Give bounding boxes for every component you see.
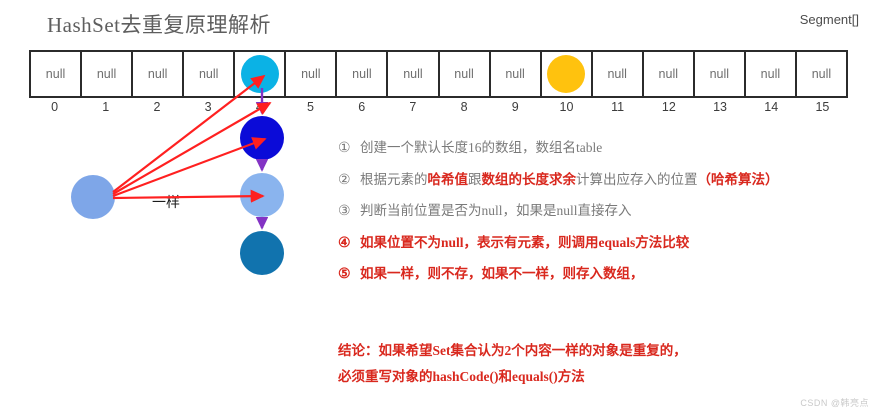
step-text-segment: 如果一样，则不存，如果不一样，则存入数组， bbox=[360, 266, 644, 281]
array-cell-14: null bbox=[746, 52, 797, 96]
bucket-node-10 bbox=[547, 55, 585, 93]
array-cell-4 bbox=[235, 52, 286, 96]
array-cell-value: null bbox=[812, 67, 831, 81]
array-index-4: 4 bbox=[234, 100, 285, 114]
array-cell-2: null bbox=[133, 52, 184, 96]
steps-list: ①创建一个默认长度16的数组，数组名table②根据元素的哈希值跟数组的长度求余… bbox=[338, 140, 868, 298]
array-index-13: 13 bbox=[694, 100, 745, 114]
step-text-segment: 如果位置不为null，表示有元素，则调用equals方法比较 bbox=[360, 235, 689, 250]
array-cell-value: null bbox=[607, 67, 626, 81]
bucket-node-4 bbox=[241, 55, 279, 93]
array-cell-value: null bbox=[403, 67, 422, 81]
source-element-node bbox=[71, 175, 115, 219]
segment-array-label: Segment[] bbox=[800, 12, 859, 27]
watermark: CSDN @韩亮点 bbox=[800, 396, 869, 409]
array-cell-value: null bbox=[454, 67, 473, 81]
array-cell-value: null bbox=[352, 67, 371, 81]
array-index-14: 14 bbox=[746, 100, 797, 114]
array-index-12: 12 bbox=[643, 100, 694, 114]
array-index-10: 10 bbox=[541, 100, 592, 114]
step-text: 判断当前位置是否为null，如果是null直接存入 bbox=[360, 203, 632, 220]
page-title: HashSet去重复原理解析 bbox=[47, 9, 271, 39]
array-index-2: 2 bbox=[131, 100, 182, 114]
array-cell-10 bbox=[542, 52, 593, 96]
array-cell-value: null bbox=[148, 67, 167, 81]
step-item: ②根据元素的哈希值跟数组的长度求余计算出应存入的位置（哈希算法） bbox=[338, 172, 868, 190]
array-index-9: 9 bbox=[490, 100, 541, 114]
step-number: ① bbox=[338, 140, 360, 158]
step-number: ② bbox=[338, 172, 360, 190]
chain-node-2 bbox=[240, 116, 284, 160]
array-index-7: 7 bbox=[387, 100, 438, 114]
step-text-segment: 判断当前位置是否为null，如果是null直接存入 bbox=[360, 203, 632, 218]
step-text: 根据元素的哈希值跟数组的长度求余计算出应存入的位置（哈希算法） bbox=[360, 172, 779, 189]
array-cell-5: null bbox=[286, 52, 337, 96]
compare-equal-label: 一样 bbox=[152, 192, 180, 212]
array-index-row: 0123456789101112131415 bbox=[29, 100, 848, 114]
array-cell-value: null bbox=[301, 67, 320, 81]
array-index-8: 8 bbox=[439, 100, 490, 114]
step-text-segment: （哈希算法） bbox=[698, 172, 779, 187]
array-cell-value: null bbox=[97, 67, 116, 81]
step-text-segment: 哈希值 bbox=[428, 172, 469, 187]
diagram-canvas: HashSet去重复原理解析 Segment[] nullnullnullnul… bbox=[0, 0, 883, 417]
array-cell-13: null bbox=[695, 52, 746, 96]
array-index-0: 0 bbox=[29, 100, 80, 114]
step-number: ③ bbox=[338, 203, 360, 221]
step-text: 创建一个默认长度16的数组，数组名table bbox=[360, 140, 602, 157]
array-cell-value: null bbox=[710, 67, 729, 81]
chain-node-4 bbox=[240, 231, 284, 275]
conclusion-line: 结论：如果希望Set集合认为2个内容一样的对象是重复的， bbox=[338, 338, 868, 364]
step-item: ①创建一个默认长度16的数组，数组名table bbox=[338, 140, 868, 158]
step-item: ⑤如果一样，则不存，如果不一样，则存入数组， bbox=[338, 266, 868, 284]
step-text-segment: 创建一个默认长度16的数组，数组名table bbox=[360, 140, 602, 155]
array-index-6: 6 bbox=[336, 100, 387, 114]
array-index-3: 3 bbox=[183, 100, 234, 114]
step-text-segment: 数组的长度求余 bbox=[482, 172, 577, 187]
step-number: ⑤ bbox=[338, 266, 360, 284]
step-text: 如果位置不为null，表示有元素，则调用equals方法比较 bbox=[360, 235, 689, 252]
step-item: ④如果位置不为null，表示有元素，则调用equals方法比较 bbox=[338, 235, 868, 253]
step-text-segment: 跟 bbox=[468, 172, 482, 187]
array-cell-6: null bbox=[337, 52, 388, 96]
step-text-segment: 计算出应存入的位置 bbox=[576, 172, 698, 187]
array-index-1: 1 bbox=[80, 100, 131, 114]
array-index-11: 11 bbox=[592, 100, 643, 114]
step-item: ③判断当前位置是否为null，如果是null直接存入 bbox=[338, 203, 868, 221]
array-cell-8: null bbox=[440, 52, 491, 96]
step-text-segment: 根据元素的 bbox=[360, 172, 428, 187]
array-cell-12: null bbox=[644, 52, 695, 96]
array-cell-1: null bbox=[82, 52, 133, 96]
array-cell-3: null bbox=[184, 52, 235, 96]
step-text: 如果一样，则不存，如果不一样，则存入数组， bbox=[360, 266, 644, 283]
array-index-15: 15 bbox=[797, 100, 848, 114]
conclusion-block: 结论：如果希望Set集合认为2个内容一样的对象是重复的，必须重写对象的hashC… bbox=[338, 338, 868, 391]
array-cell-value: null bbox=[46, 67, 65, 81]
array-cell-value: null bbox=[505, 67, 524, 81]
array-cell-9: null bbox=[491, 52, 542, 96]
array-cell-value: null bbox=[199, 67, 218, 81]
array-cell-value: null bbox=[761, 67, 780, 81]
array-cell-value: null bbox=[659, 67, 678, 81]
array-cell-15: null bbox=[797, 52, 846, 96]
step-number: ④ bbox=[338, 235, 360, 253]
array-cell-0: null bbox=[31, 52, 82, 96]
chain-node-3 bbox=[240, 173, 284, 217]
conclusion-line: 必须重写对象的hashCode()和equals()方法 bbox=[338, 364, 868, 390]
array-index-5: 5 bbox=[285, 100, 336, 114]
hash-table-array: nullnullnullnullnullnullnullnullnullnull… bbox=[29, 50, 848, 98]
array-cell-11: null bbox=[593, 52, 644, 96]
array-cell-7: null bbox=[388, 52, 439, 96]
